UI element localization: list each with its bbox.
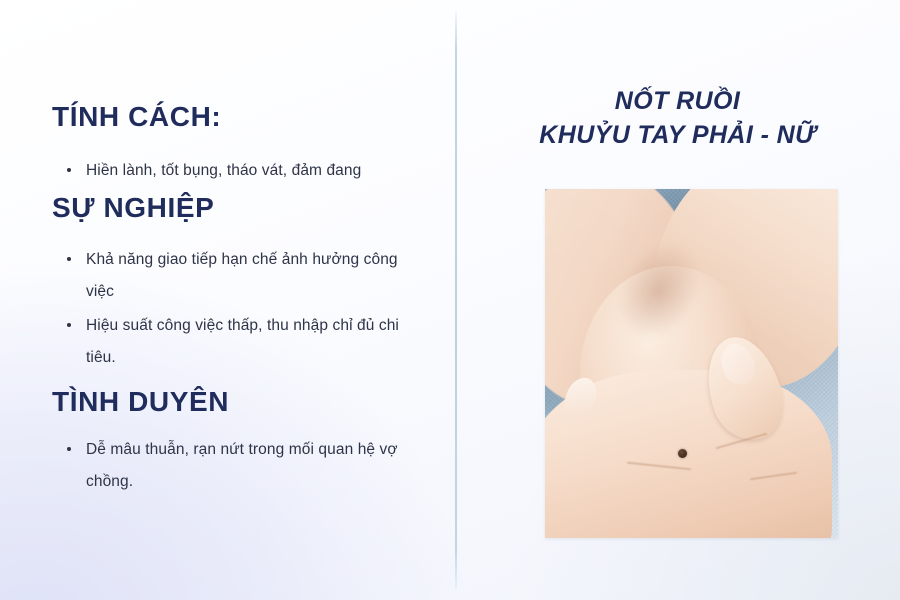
section-heading-love: TÌNH DUYÊN xyxy=(52,388,229,416)
bullet-dot-icon xyxy=(67,323,71,327)
personality-list: Hiền lành, tốt bụng, tháo vát, đảm đang xyxy=(62,155,407,187)
bullet-dot-icon xyxy=(67,168,71,172)
left-content-panel: TÍNH CÁCH: Hiền lành, tốt bụng, tháo vát… xyxy=(0,0,455,600)
list-item-text: Dễ mâu thuẫn, rạn nứt trong mối quan hệ … xyxy=(86,441,398,490)
photo-title-line-2: KHUỶU TAY PHẢI - NỮ xyxy=(455,118,900,152)
list-item-text: Hiền lành, tốt bụng, tháo vát, đảm đang xyxy=(86,162,361,179)
bullet-dot-icon xyxy=(67,447,71,451)
right-content-panel: NỐT RUỒI KHUỶU TAY PHẢI - NỮ xyxy=(455,0,900,600)
photo-scene xyxy=(545,189,838,538)
list-item-text: Khả năng giao tiếp hạn chế ảnh hưởng côn… xyxy=(86,251,398,300)
photo-title-line-1: NỐT RUỒI xyxy=(455,84,900,118)
photo-title: NỐT RUỒI KHUỶU TAY PHẢI - NỮ xyxy=(455,84,900,152)
bullet-dot-icon xyxy=(67,257,71,261)
elbow-mole-photo xyxy=(545,189,838,538)
section-heading-personality: TÍNH CÁCH: xyxy=(52,103,221,131)
list-item: Hiệu suất công việc thấp, thu nhập chỉ đ… xyxy=(62,310,407,374)
list-item: Hiền lành, tốt bụng, tháo vát, đảm đang xyxy=(62,155,407,187)
list-item: Dễ mâu thuẫn, rạn nứt trong mối quan hệ … xyxy=(62,434,407,498)
list-item: Khả năng giao tiếp hạn chế ảnh hưởng côn… xyxy=(62,244,407,308)
career-list: Khả năng giao tiếp hạn chế ảnh hưởng côn… xyxy=(62,244,407,374)
section-heading-career: SỰ NGHIỆP xyxy=(52,194,214,222)
infographic-canvas: TÍNH CÁCH: Hiền lành, tốt bụng, tháo vát… xyxy=(0,0,900,600)
love-list: Dễ mâu thuẫn, rạn nứt trong mối quan hệ … xyxy=(62,434,407,498)
list-item-text: Hiệu suất công việc thấp, thu nhập chỉ đ… xyxy=(86,317,399,366)
